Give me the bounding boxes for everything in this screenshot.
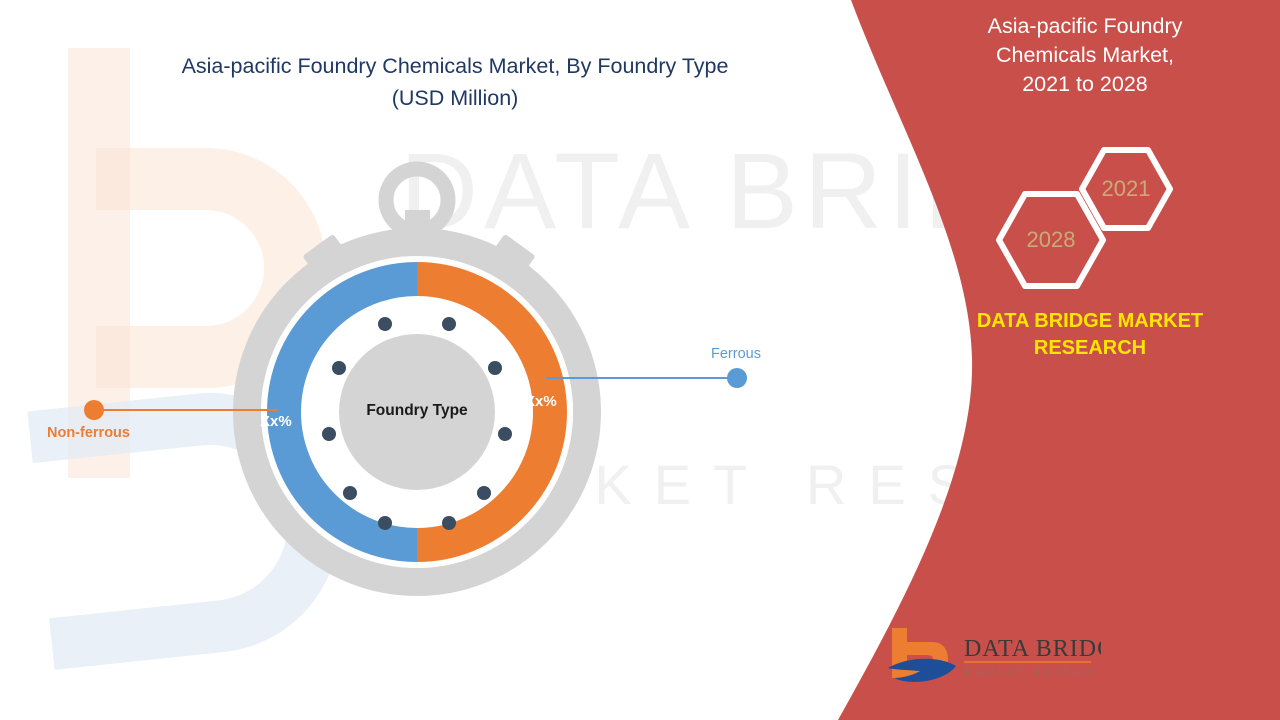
hexagon-year-2028-label: 2028 [1027, 227, 1076, 253]
infographic-canvas: DATA BRIDGE MARKET RESEARCH Asia-pacific… [0, 0, 1280, 720]
brand-name-line2: RESEARCH [945, 335, 1235, 362]
brand-panel-title-line2: Chemicals Market, [935, 41, 1235, 70]
brand-panel-title-line3: 2021 to 2028 [935, 70, 1235, 99]
dbmr-logo-mark [888, 628, 956, 682]
hexagon-year-2021: 2021 [1078, 146, 1174, 232]
hexagon-year-2021-label: 2021 [1102, 176, 1151, 202]
brand-panel-title: Asia-pacific Foundry Chemicals Market, 2… [935, 12, 1235, 99]
dbmr-logo: DATA BRIDGE MARKET RESEARCH [886, 626, 1101, 690]
dbmr-logo-tagline: MARKET RESEARCH [965, 667, 1101, 677]
brand-name-line1: DATA BRIDGE MARKET [945, 308, 1235, 335]
dbmr-logo-name: DATA BRIDGE [964, 636, 1101, 662]
brand-panel-title-line1: Asia-pacific Foundry [935, 12, 1235, 41]
brand-panel-company-name: DATA BRIDGE MARKET RESEARCH [945, 308, 1235, 362]
